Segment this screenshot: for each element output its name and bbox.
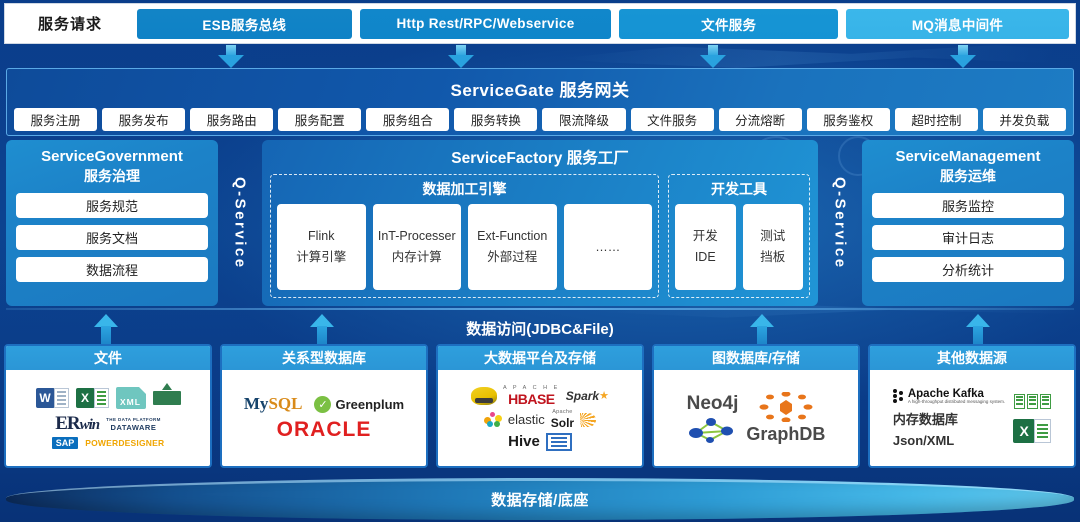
hive-bee-icon (471, 387, 497, 405)
hive-doc-icon (546, 433, 572, 451)
json-xml-label: Json/XML (893, 433, 954, 448)
dev-tools-title: 开发工具 (675, 179, 803, 199)
rdbms-logo-row-2: ORACLE (225, 418, 423, 442)
down-arrow-3 (700, 45, 726, 67)
bigdata-logo-row-3: Hive (441, 433, 639, 451)
greenplum-check-icon (314, 396, 331, 413)
word-icon: W (36, 388, 69, 408)
gate-chip-file-service[interactable]: 文件服务 (631, 108, 714, 131)
tools-card-test-top: 测试 (760, 226, 785, 247)
oracle-logo: ORACLE (277, 418, 372, 442)
engine-card-more-top: …… (595, 237, 620, 258)
source-card-graphdb-body: Neo4j (654, 370, 858, 466)
hbase-logo: A P A C H E HBASE (503, 386, 560, 408)
service-gate-chip-list: 服务注册 服务发布 服务路由 服务配置 服务组合 服务转换 限流降级 文件服务 … (7, 101, 1073, 131)
governance-item-data-flow[interactable]: 数据流程 (16, 257, 208, 282)
middle-row: ServiceGovernment 服务治理 服务规范 服务文档 数据流程 Q-… (6, 140, 1074, 306)
word-icon-letter: W (36, 388, 55, 408)
engine-card-ext-function-bottom: 外部过程 (487, 247, 537, 268)
gate-chip-service-config[interactable]: 服务配置 (278, 108, 361, 131)
excel-icon: X (1013, 419, 1051, 443)
source-card-file[interactable]: 文件 W X XML ERwin (4, 344, 212, 468)
engine-card-ext-function-top: Ext-Function (477, 226, 547, 247)
memory-database-label: 内存数据库 (893, 409, 958, 428)
dev-tools-cards: 开发 IDE 测试 挡板 (675, 204, 803, 290)
down-arrow-1 (218, 45, 244, 67)
down-arrow-2 (448, 45, 474, 67)
service-management-panel: ServiceManagement 服务运维 服务监控 审计日志 分析统计 (862, 140, 1074, 306)
decorative-swoosh-top (560, 44, 1080, 70)
up-arrow-4 (966, 314, 990, 344)
data-processing-engine-group: 数据加工引擎 Flink 计算引擎 InT-Processer 内存计算 Ext… (270, 174, 659, 298)
elastic-logo: elastic (508, 412, 545, 427)
engine-card-flink-top: Flink (308, 226, 334, 247)
gate-chip-service-transform[interactable]: 服务转换 (454, 108, 537, 131)
storage-platform: 数据存储/底座 (0, 478, 1080, 522)
up-arrow-1 (94, 314, 118, 344)
q-service-right-label: Q-Service (832, 177, 849, 270)
bigdata-logo-row-1: A P A C H E HBASE Spark ★ (441, 386, 639, 408)
tools-card-test-bottom: 挡板 (760, 247, 785, 268)
data-processing-engine-cards: Flink 计算引擎 InT-Processer 内存计算 Ext-Functi… (277, 204, 652, 290)
source-card-graphdb[interactable]: 图数据库/存储 Neo4j (652, 344, 860, 468)
other-text-block: Apache Kafka A high-throughput distribut… (893, 388, 1005, 449)
management-item-audit-log[interactable]: 审计日志 (872, 225, 1064, 250)
up-arrow-2 (310, 314, 334, 344)
service-factory-body: 数据加工引擎 Flink 计算引擎 InT-Processer 内存计算 Ext… (270, 174, 810, 298)
spark-star-icon: ★ (599, 389, 609, 402)
service-request-label: 服务请求 (11, 13, 129, 34)
channel-esb[interactable]: ESB服务总线 (137, 9, 352, 39)
solr-logo: Apache Solr (551, 410, 574, 430)
graphdb-node-icon (758, 392, 814, 422)
management-item-analytics[interactable]: 分析统计 (872, 257, 1064, 282)
file-logo-row-3: SAP POWERDESIGNER (9, 437, 207, 449)
channel-file-service[interactable]: 文件服务 (619, 9, 838, 39)
service-government-title-cn: 服务治理 (16, 166, 208, 186)
green-table-icon (1014, 394, 1051, 409)
engine-card-int-processer-top: InT-Processer (378, 226, 456, 247)
service-factory-title: ServiceFactory 服务工厂 (270, 146, 810, 168)
file-logo-row-1: W X XML (9, 387, 207, 409)
service-request-bar: 服务请求 ESB服务总线 Http Rest/RPC/Webservice 文件… (4, 3, 1076, 44)
service-government-title-en: ServiceGovernment (16, 148, 208, 166)
gate-chip-service-compose[interactable]: 服务组合 (366, 108, 449, 131)
gate-chip-service-register[interactable]: 服务注册 (14, 108, 97, 131)
dev-tools-group: 开发工具 开发 IDE 测试 挡板 (668, 174, 810, 298)
data-access-label: 数据访问(JDBC&File) (466, 318, 614, 339)
q-service-right: Q-Service (818, 140, 862, 306)
engine-card-flink[interactable]: Flink 计算引擎 (277, 204, 366, 290)
q-service-left-label: Q-Service (232, 177, 249, 270)
source-card-other-body: Apache Kafka A high-throughput distribut… (870, 370, 1074, 466)
kafka-logo: Apache Kafka A high-throughput distribut… (893, 388, 1005, 405)
service-gate-title: ServiceGate 服务网关 (7, 69, 1073, 101)
tools-card-ide-top: 开发 (693, 226, 718, 247)
source-card-other[interactable]: 其他数据源 Apache Kafka A high-throughput dis… (868, 344, 1076, 468)
solr-burst-icon (580, 413, 596, 427)
xml-icon: XML (116, 387, 146, 409)
gate-chip-service-route[interactable]: 服务路由 (190, 108, 273, 131)
source-card-file-body: W X XML ERwin THE DATA PLATFORM (6, 370, 210, 466)
mysql-logo: MySQL (244, 394, 303, 414)
erwin-logo: ERwin (55, 413, 99, 435)
architecture-diagram: 服务请求 ESB服务总线 Http Rest/RPC/Webservice 文件… (0, 0, 1080, 522)
elastic-dots-icon (484, 412, 502, 427)
service-factory-panel: ServiceFactory 服务工厂 数据加工引擎 Flink 计算引擎 In… (262, 140, 818, 306)
other-icon-block: X (1013, 394, 1051, 443)
gate-chip-concurrency-load[interactable]: 并发负载 (983, 108, 1066, 131)
data-source-cards: 文件 W X XML ERwin (4, 344, 1076, 468)
greenplum-logo: Greenplum (314, 396, 404, 413)
gate-chip-service-publish[interactable]: 服务发布 (102, 108, 185, 131)
sap-icon: SAP (52, 437, 79, 449)
neo4j-block: Neo4j (687, 393, 739, 443)
kafka-dots-icon (893, 389, 906, 403)
tools-card-ide-bottom: IDE (695, 247, 716, 268)
governance-item-service-spec[interactable]: 服务规范 (16, 193, 208, 218)
source-card-graphdb-title: 图数据库/存储 (654, 346, 858, 370)
service-management-title-en: ServiceManagement (872, 148, 1064, 166)
engine-card-int-processer[interactable]: InT-Processer 内存计算 (373, 204, 462, 290)
hive-logo: Hive (508, 433, 540, 450)
tools-card-test[interactable]: 测试 挡板 (743, 204, 804, 290)
engine-card-flink-bottom: 计算引擎 (296, 247, 346, 268)
spark-logo: Spark ★ (566, 389, 609, 403)
source-card-bigdata-title: 大数据平台及存储 (438, 346, 642, 370)
excel-icon-letter: X (1013, 419, 1035, 443)
service-gate-panel: ServiceGate 服务网关 服务注册 服务发布 服务路由 服务配置 服务组… (6, 68, 1074, 136)
engine-card-more[interactable]: …… (564, 204, 653, 290)
service-government-panel: ServiceGovernment 服务治理 服务规范 服务文档 数据流程 (6, 140, 218, 306)
excel-icon: X (76, 388, 109, 408)
service-management-title-cn: 服务运维 (872, 166, 1064, 186)
source-card-other-title: 其他数据源 (870, 346, 1074, 370)
file-logo-row-2: ERwin THE DATA PLATFORM DATAWARE (9, 413, 207, 435)
dataware-logo: THE DATA PLATFORM DATAWARE (106, 417, 161, 432)
source-card-rdbms[interactable]: 关系型数据库 MySQL Greenplum ORACLE (220, 344, 428, 468)
storage-platform-label: 数据存储/底座 (0, 478, 1080, 520)
governance-item-service-doc[interactable]: 服务文档 (16, 225, 208, 250)
up-arrow-3 (750, 314, 774, 344)
tools-card-ide[interactable]: 开发 IDE (675, 204, 736, 290)
neo4j-graph-icon (689, 417, 735, 443)
bigdata-logo-row-2: elastic Apache Solr (441, 410, 639, 430)
excel-icon-letter: X (76, 388, 95, 408)
engine-card-int-processer-bottom: 内存计算 (392, 247, 442, 268)
graphdb-logo: GraphDB (746, 424, 825, 445)
source-card-file-title: 文件 (6, 346, 210, 370)
graphdb-block: GraphDB (746, 392, 825, 445)
gate-chip-timeout-control[interactable]: 超时控制 (895, 108, 978, 131)
powerdesigner-logo: POWERDESIGNER (85, 438, 164, 448)
rdbms-logo-row-1: MySQL Greenplum (225, 394, 423, 414)
channel-mq[interactable]: MQ消息中间件 (846, 9, 1069, 39)
gate-chip-authentication[interactable]: 服务鉴权 (807, 108, 890, 131)
gate-chip-circuit-breaker[interactable]: 分流熔断 (719, 108, 802, 131)
neo4j-logo: Neo4j (687, 393, 739, 415)
down-arrow-4 (950, 45, 976, 67)
source-card-bigdata[interactable]: 大数据平台及存储 A P A C H E HBASE Spark ★ (436, 344, 644, 468)
source-card-rdbms-body: MySQL Greenplum ORACLE (222, 370, 426, 466)
data-access-band: 数据访问(JDBC&File) (0, 310, 1080, 346)
channel-http-rest-rpc-webservice[interactable]: Http Rest/RPC/Webservice (360, 9, 612, 39)
source-card-bigdata-body: A P A C H E HBASE Spark ★ (438, 370, 642, 466)
source-card-rdbms-title: 关系型数据库 (222, 346, 426, 370)
management-item-monitor[interactable]: 服务监控 (872, 193, 1064, 218)
data-processing-engine-title: 数据加工引擎 (277, 179, 652, 199)
green-db-icon (153, 391, 181, 405)
q-service-left: Q-Service (218, 140, 262, 306)
gate-chip-rate-limit[interactable]: 限流降级 (542, 108, 625, 131)
engine-card-ext-function[interactable]: Ext-Function 外部过程 (468, 204, 557, 290)
